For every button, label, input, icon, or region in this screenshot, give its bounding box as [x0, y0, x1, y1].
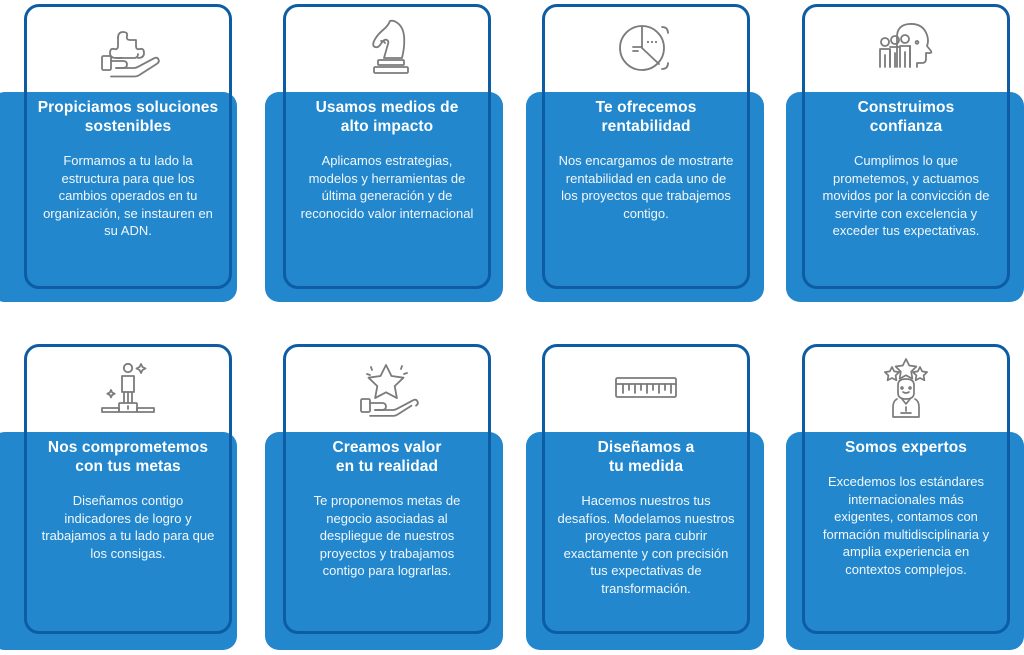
card-text-block: Creamos valor en tu realidad Te proponem…: [283, 438, 491, 580]
feature-card-6[interactable]: Creamos valor en tu realidad Te proponem…: [256, 340, 512, 655]
card-title: Te ofrecemos rentabilidad: [546, 98, 746, 136]
podium-person-icon: [24, 344, 232, 432]
ruler-icon: [542, 344, 750, 432]
card-title: Propiciamos soluciones sostenibles: [28, 98, 228, 136]
card-description: Cumplimos lo que prometemos, y actuamos …: [806, 152, 1006, 240]
expert-stars-person-icon: [802, 344, 1010, 432]
card-description: Hacemos nuestros tus desafíos. Modelamos…: [546, 492, 746, 597]
card-text-block: Usamos medios de alto impacto Aplicamos …: [283, 98, 491, 222]
feature-card-5[interactable]: Nos comprometemos con tus metas Diseñamo…: [0, 340, 256, 655]
hand-puzzle-icon: [24, 4, 232, 92]
card-title: Nos comprometemos con tus metas: [28, 438, 228, 476]
card-description: Te proponemos metas de negocio asociadas…: [287, 492, 487, 580]
feature-card-3[interactable]: Te ofrecemos rentabilidad Nos encargamos…: [512, 0, 768, 310]
card-text-block: Nos comprometemos con tus metas Diseñamo…: [24, 438, 232, 562]
feature-card-7[interactable]: Diseñamos a tu medida Hacemos nuestros t…: [512, 340, 768, 655]
card-description: Excedemos los estándares internacionales…: [806, 473, 1006, 578]
card-description: Diseñamos contigo indicadores de logro y…: [28, 492, 228, 562]
card-title: Creamos valor en tu realidad: [287, 438, 487, 476]
feature-card-2[interactable]: Usamos medios de alto impacto Aplicamos …: [256, 0, 512, 310]
card-text-block: Propiciamos soluciones sostenibles Forma…: [24, 98, 232, 240]
card-text-block: Diseñamos a tu medida Hacemos nuestros t…: [542, 438, 750, 597]
hand-star-icon: [283, 344, 491, 432]
card-description: Aplicamos estrategias, modelos y herrami…: [287, 152, 487, 222]
card-description: Formamos a tu lado la estructura para qu…: [28, 152, 228, 240]
feature-card-1[interactable]: Propiciamos soluciones sostenibles Forma…: [0, 0, 256, 310]
card-text-block: Te ofrecemos rentabilidad Nos encargamos…: [542, 98, 750, 222]
people-head-icon: [802, 4, 1010, 92]
card-title: Somos expertos: [806, 438, 1006, 457]
feature-card-8[interactable]: Somos expertos Excedemos los estándares …: [768, 340, 1024, 655]
chess-knight-icon: [283, 4, 491, 92]
feature-card-4[interactable]: Construimos confianza Cumplimos lo que p…: [768, 0, 1024, 310]
card-text-block: Somos expertos Excedemos los estándares …: [802, 438, 1010, 578]
card-text-block: Construimos confianza Cumplimos lo que p…: [802, 98, 1010, 240]
features-grid: Propiciamos soluciones sostenibles Forma…: [0, 0, 1024, 655]
card-title: Usamos medios de alto impacto: [287, 98, 487, 136]
card-title: Diseñamos a tu medida: [546, 438, 746, 476]
card-title: Construimos confianza: [806, 98, 1006, 136]
card-description: Nos encargamos de mostrarte rentabilidad…: [546, 152, 746, 222]
pie-chart-icon: [542, 4, 750, 92]
